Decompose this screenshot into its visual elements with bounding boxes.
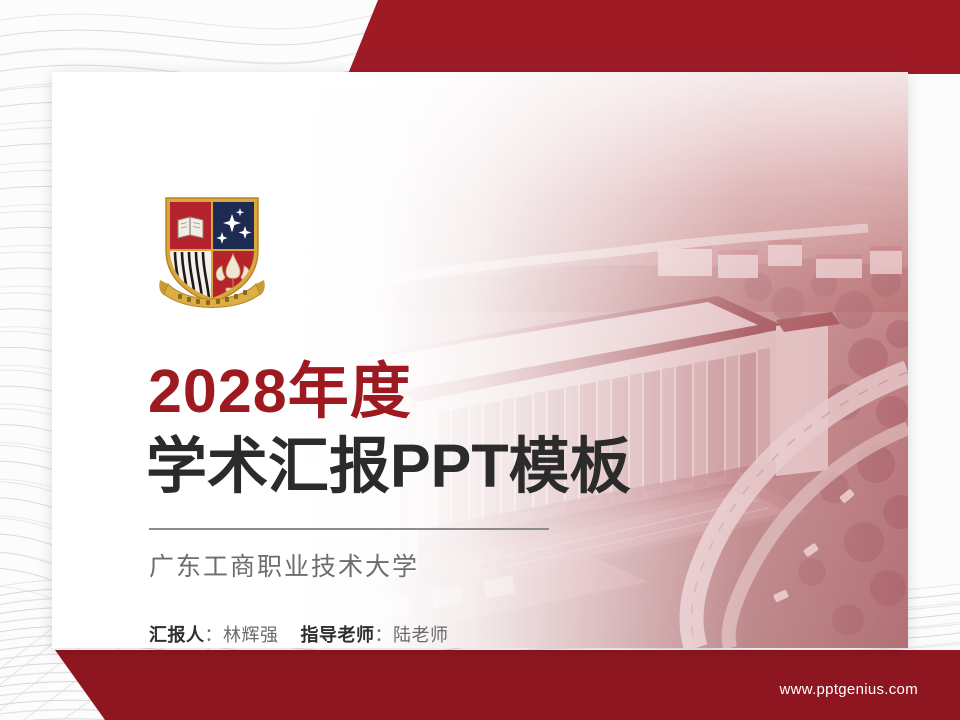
presentation-slide: 2028年度 学术汇报PPT模板 广东工商职业技术大学 汇报人：林辉强指导老师：… — [0, 0, 960, 720]
school-name: 广东工商职业技术大学 — [149, 547, 419, 583]
title-divider — [149, 528, 549, 530]
advisor-separator: ： — [375, 625, 394, 645]
content-card: 2028年度 学术汇报PPT模板 广东工商职业技术大学 汇报人：林辉强指导老师：… — [52, 72, 908, 648]
advisor-name: 陆老师 — [393, 625, 449, 645]
site-url[interactable]: www.pptgenius.com — [780, 681, 919, 698]
presenter-separator: ： — [205, 625, 224, 645]
advisor-label: 指导老师 — [301, 625, 375, 645]
byline: 汇报人：林辉强指导老师：陆老师 — [149, 621, 449, 647]
presenter-name: 林辉强 — [223, 625, 279, 645]
title-year: 2028年度 — [148, 361, 412, 422]
presenter-label: 汇报人 — [149, 625, 205, 645]
title-main: 学术汇报PPT模板 — [146, 436, 631, 497]
